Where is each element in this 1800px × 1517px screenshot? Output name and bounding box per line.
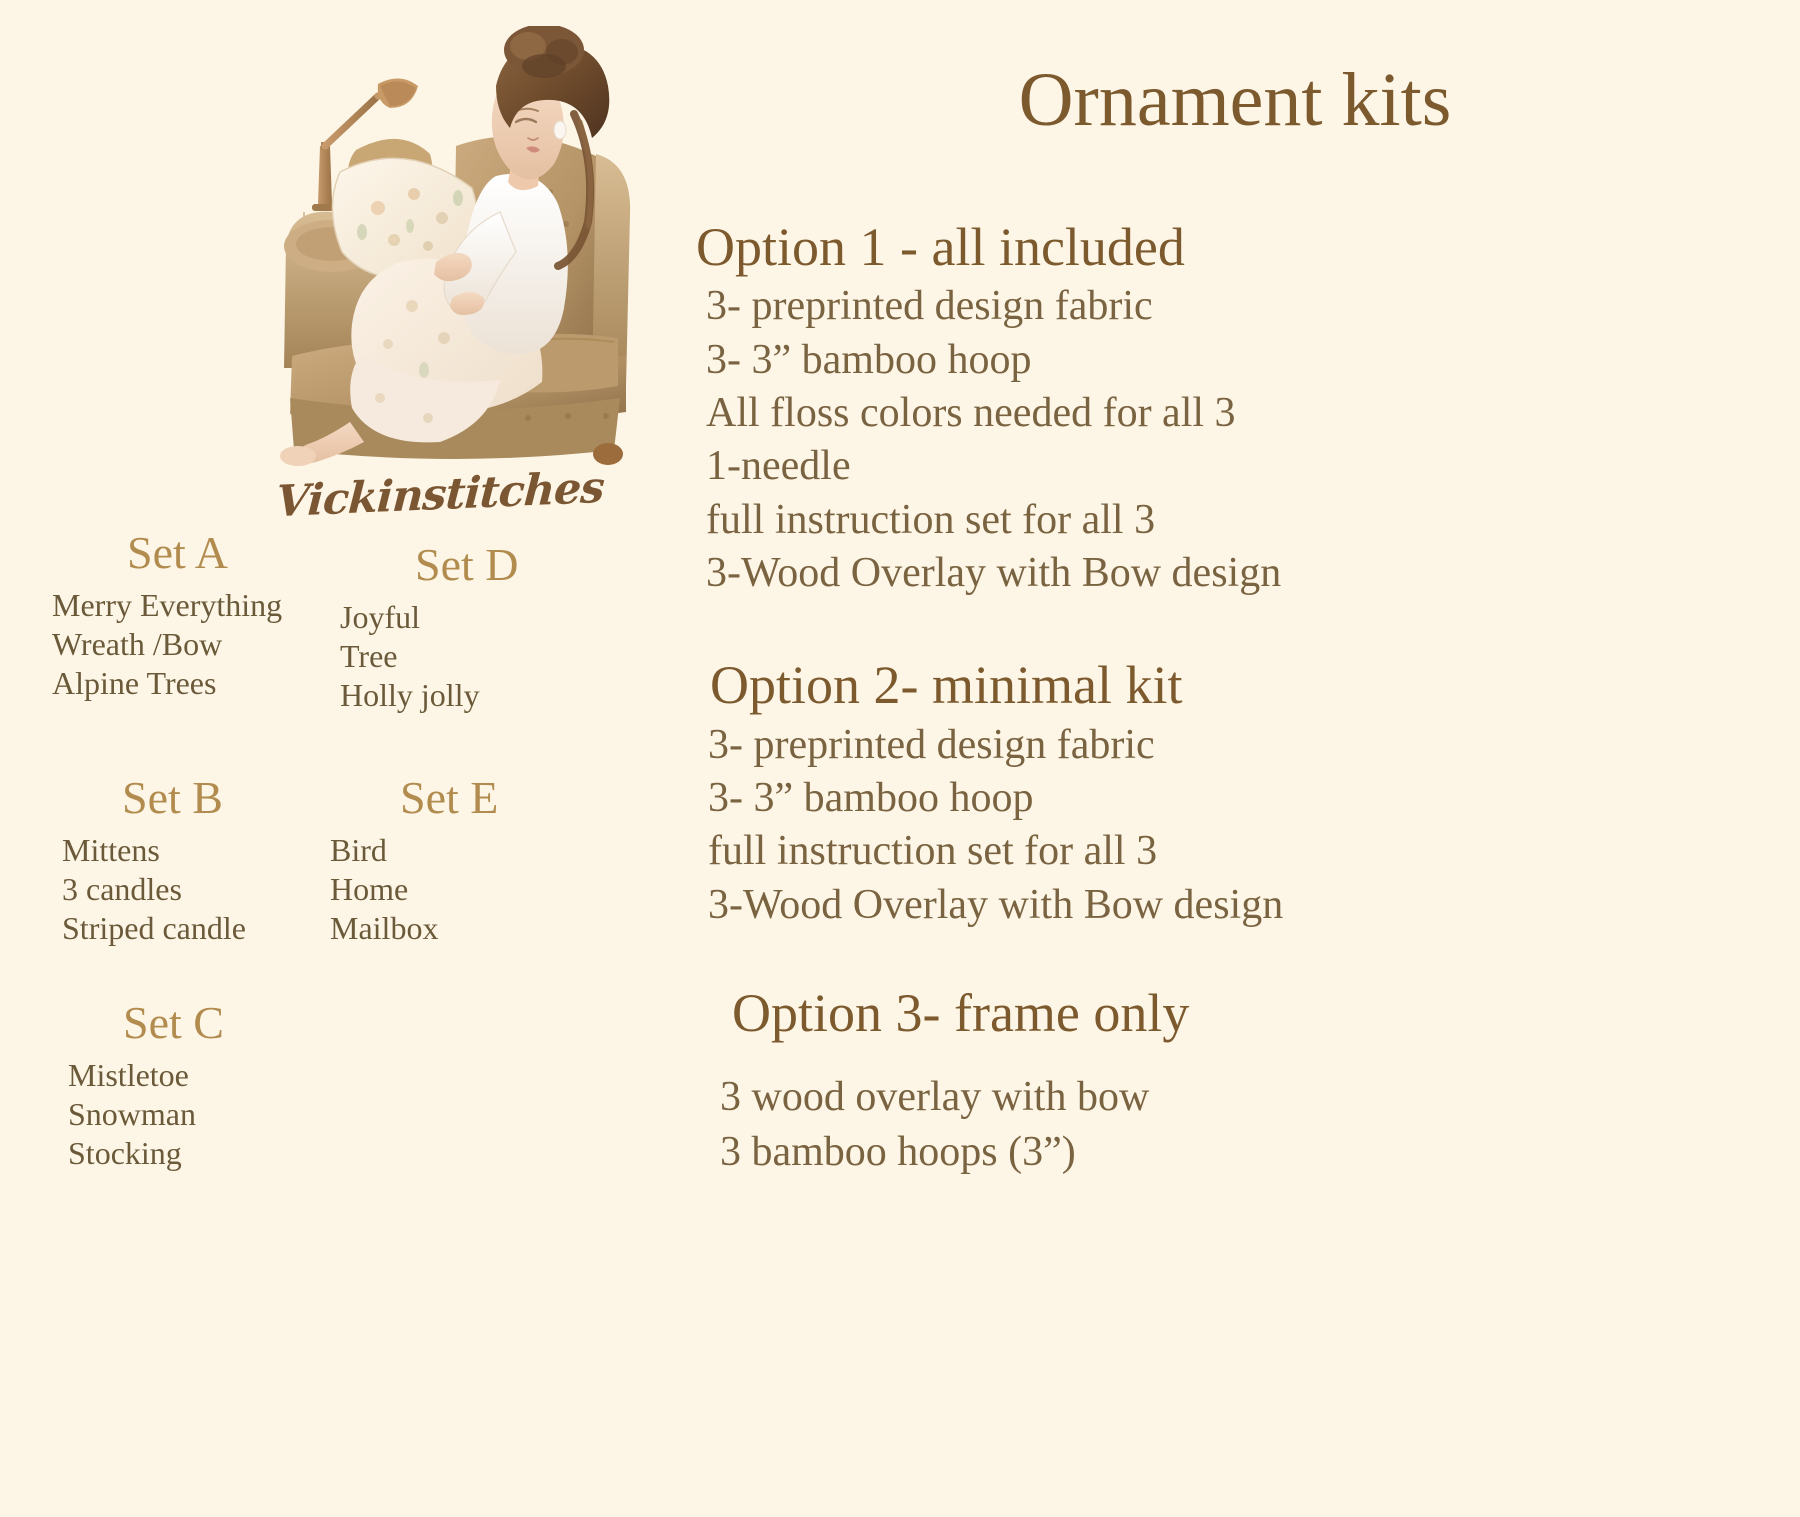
set-item: Bird (330, 831, 498, 870)
set-block-b: Set B Mittens 3 candles Striped candle (62, 775, 246, 948)
option-item: 3- preprinted design fabric (708, 719, 1780, 772)
set-items-e: Bird Home Mailbox (330, 831, 498, 948)
option-2-heading: Option 2- minimal kit (710, 656, 1780, 714)
set-title-d: Set D (415, 542, 519, 588)
option-item: 3- 3” bamboo hoop (706, 334, 1780, 387)
set-items-c: Mistletoe Snowman Stocking (68, 1056, 224, 1173)
set-title-c: Set C (123, 1000, 224, 1046)
option-item: full instruction set for all 3 (706, 494, 1780, 547)
options-panel: Ornament kits Option 1 - all included 3-… (680, 40, 1780, 1179)
option-2-list: 3- preprinted design fabric 3- 3” bamboo… (708, 719, 1780, 932)
option-item: 3 bamboo hoops (3”) (720, 1125, 1780, 1180)
set-block-e: Set E Bird Home Mailbox (330, 775, 498, 948)
set-item: Holly jolly (340, 676, 519, 715)
set-items-a: Merry Everything Wreath /Bow Alpine Tree… (52, 586, 282, 703)
option-item: 3-Wood Overlay with Bow design (708, 879, 1780, 932)
set-item: Snowman (68, 1095, 224, 1134)
set-item: 3 candles (62, 870, 246, 909)
set-block-d: Set D Joyful Tree Holly jolly (340, 542, 519, 715)
set-title-b: Set B (122, 775, 246, 821)
set-item: Home (330, 870, 498, 909)
poster-canvas: Vickinstitches Set A Merry Everything Wr… (0, 0, 1800, 1517)
option-3-heading: Option 3- frame only (732, 984, 1780, 1042)
sets-area: Set A Merry Everything Wreath /Bow Alpin… (0, 530, 660, 1210)
option-item: full instruction set for all 3 (708, 825, 1780, 878)
set-title-e: Set E (400, 775, 498, 821)
option-item: 3 wood overlay with bow (720, 1070, 1780, 1125)
option-item: 3- 3” bamboo hoop (708, 772, 1780, 825)
set-item: Mistletoe (68, 1056, 224, 1095)
option-3-list: 3 wood overlay with bow 3 bamboo hoops (… (720, 1070, 1780, 1179)
set-item: Tree (340, 637, 519, 676)
option-item: 1-needle (706, 440, 1780, 493)
set-item: Merry Everything (52, 586, 282, 625)
set-items-d: Joyful Tree Holly jolly (340, 598, 519, 715)
set-item: Joyful (340, 598, 519, 637)
set-block-a: Set A Merry Everything Wreath /Bow Alpin… (52, 530, 282, 703)
page-title: Ornament kits (680, 62, 1780, 138)
option-block-2: Option 2- minimal kit 3- preprinted desi… (680, 656, 1780, 932)
set-items-b: Mittens 3 candles Striped candle (62, 831, 246, 948)
brand-logo-text: Vickinstitches (275, 463, 606, 527)
set-block-c: Set C Mistletoe Snowman Stocking (68, 1000, 224, 1173)
option-item: 3- preprinted design fabric (706, 280, 1780, 333)
set-title-a: Set A (127, 530, 282, 576)
option-block-3: Option 3- frame only 3 wood overlay with… (680, 984, 1780, 1180)
set-item: Striped candle (62, 909, 246, 948)
option-item: All floss colors needed for all 3 (706, 387, 1780, 440)
set-item: Alpine Trees (52, 664, 282, 703)
option-item: 3-Wood Overlay with Bow design (706, 547, 1780, 600)
set-item: Mailbox (330, 909, 498, 948)
option-1-list: 3- preprinted design fabric 3- 3” bamboo… (706, 280, 1780, 600)
set-item: Stocking (68, 1134, 224, 1173)
reading-woman-illustration (228, 26, 652, 466)
option-1-heading: Option 1 - all included (696, 218, 1780, 276)
set-item: Mittens (62, 831, 246, 870)
option-block-1: Option 1 - all included 3- preprinted de… (688, 218, 1780, 600)
set-item: Wreath /Bow (52, 625, 282, 664)
brand-logo: Vickinstitches (295, 460, 585, 530)
